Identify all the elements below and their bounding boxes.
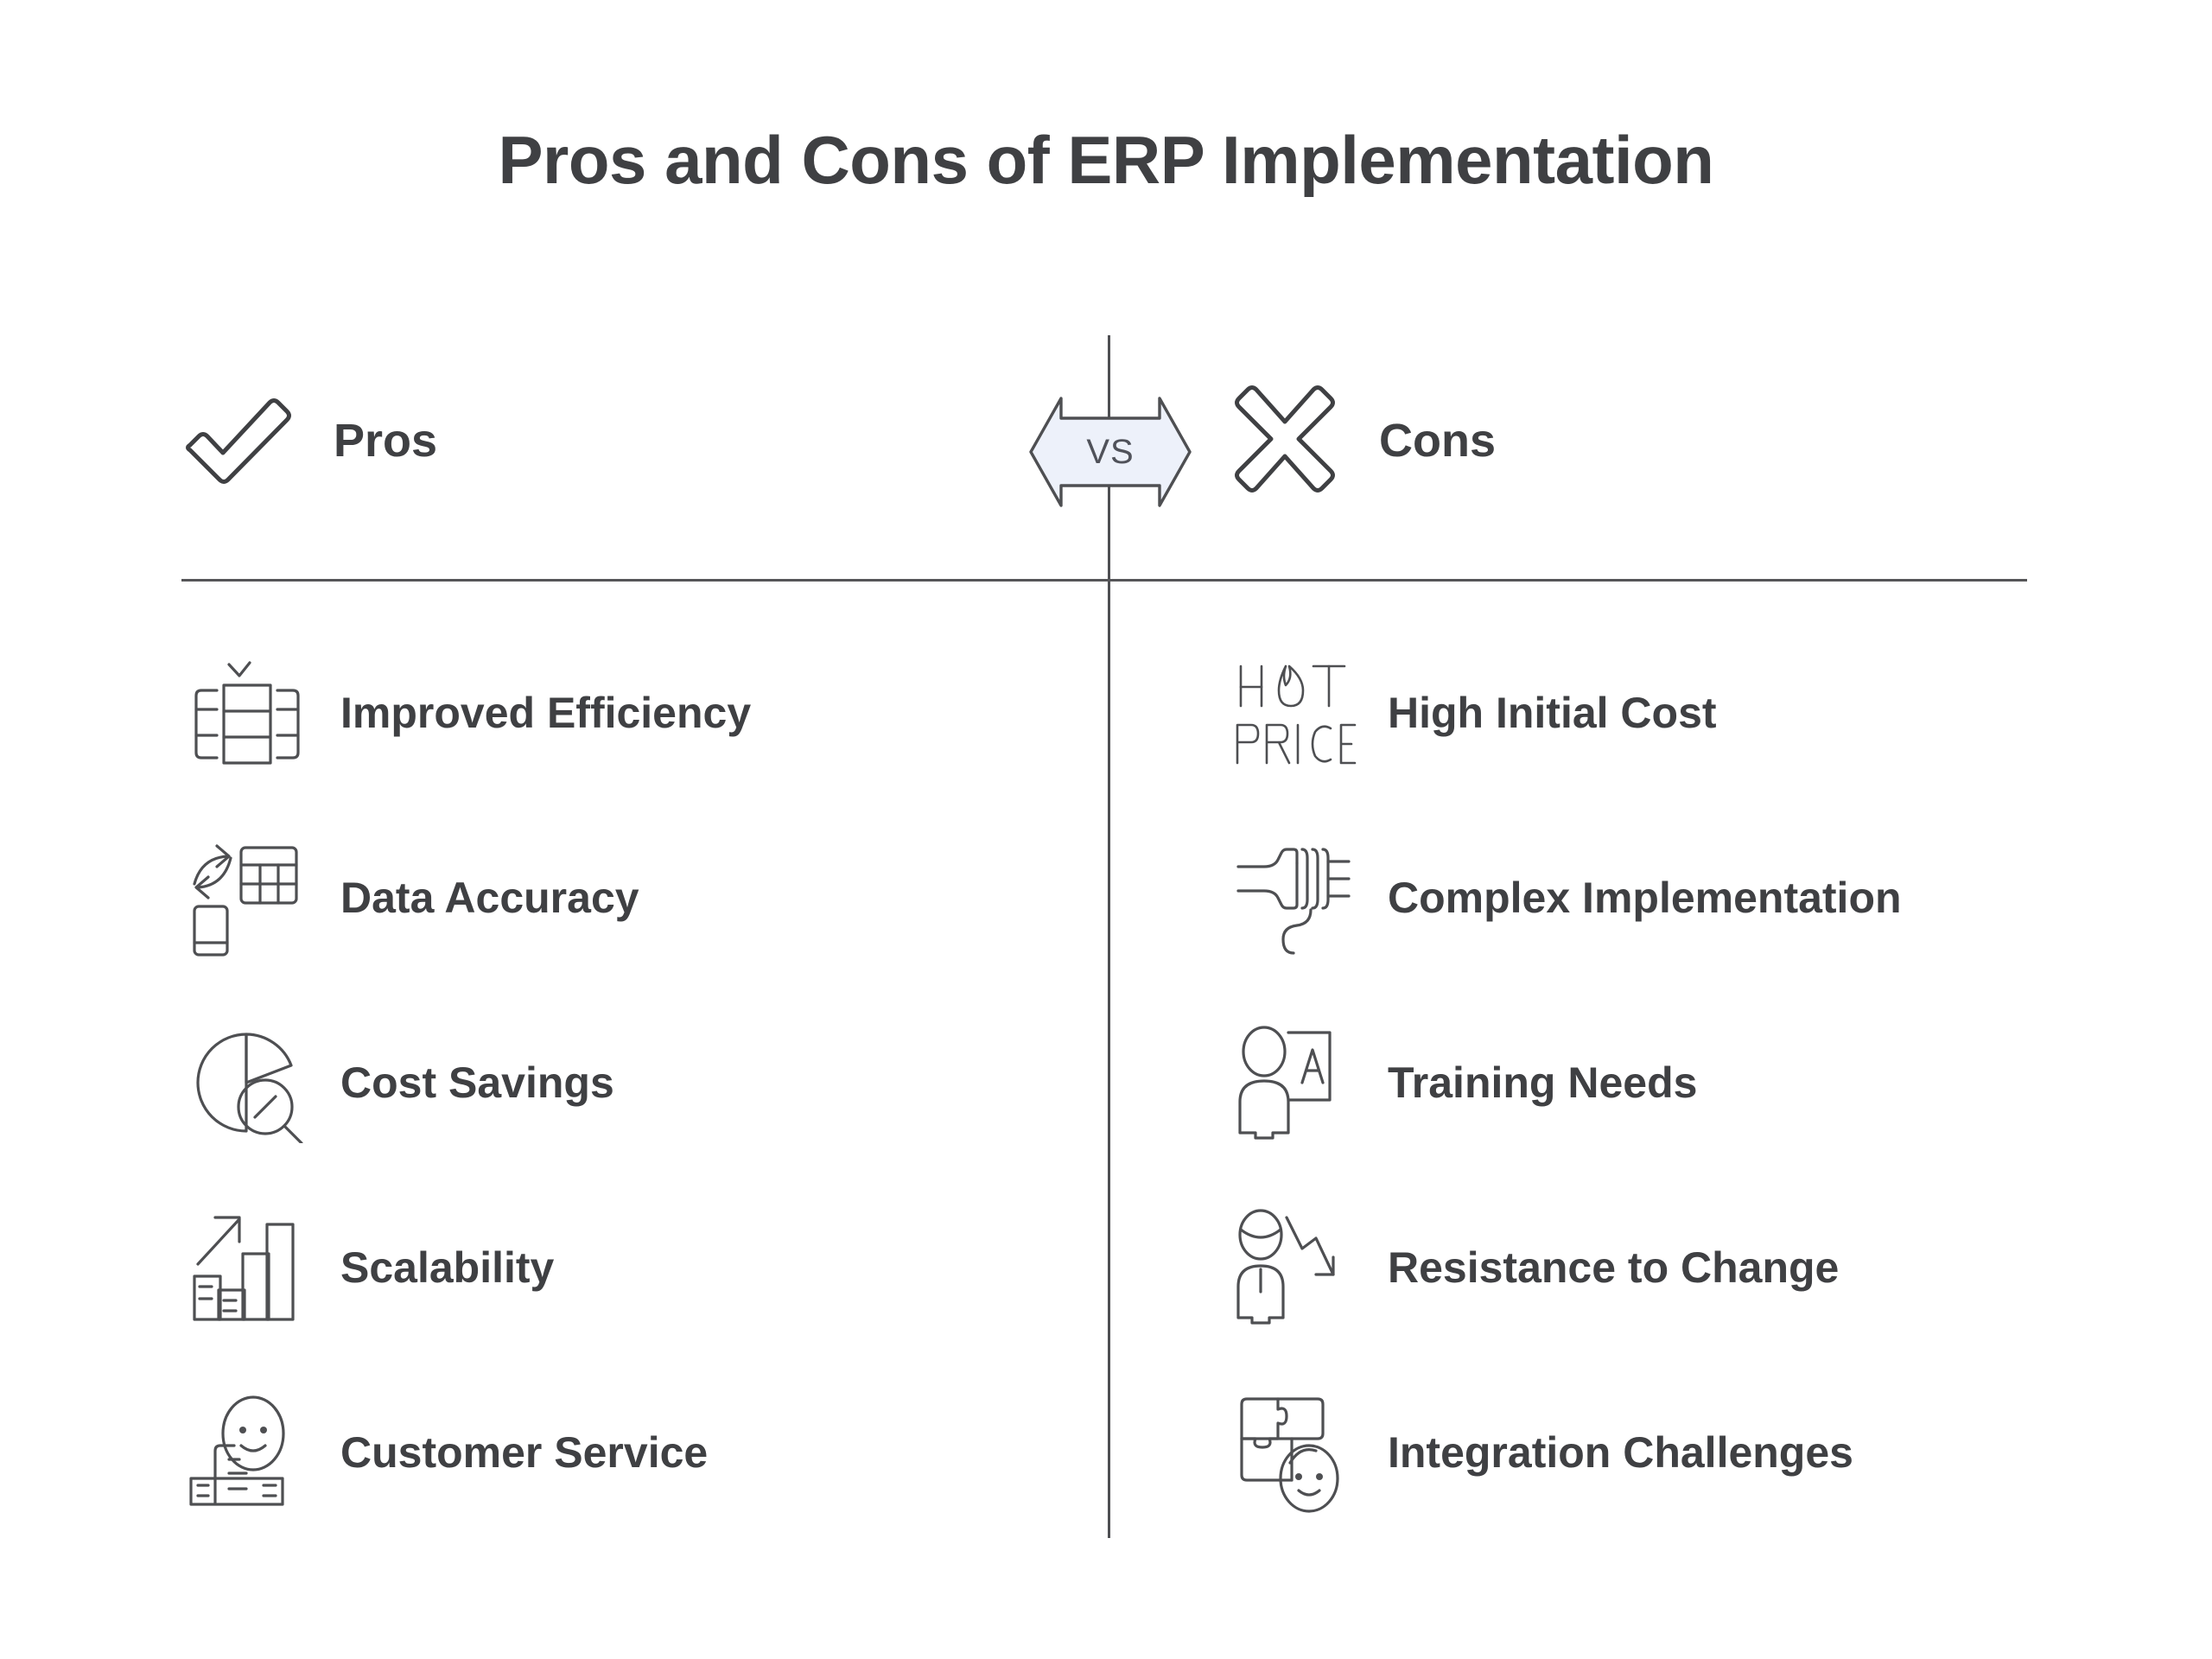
slide-root: Pros and Cons of ERP Implementation Pros… (0, 0, 2212, 1659)
list-item[interactable]: Integration Challenges (1229, 1360, 2145, 1545)
list-item-label: Scalability (340, 1244, 554, 1292)
puzzle-face-icon (1229, 1388, 1358, 1517)
list-item-label: Improved Efficiency (340, 690, 751, 737)
list-item-label: Integration Challenges (1388, 1429, 1853, 1477)
list-item[interactable]: Customer Service (181, 1360, 1097, 1545)
versus-label: VS (1028, 396, 1192, 508)
list-item[interactable]: Data Accuracy (181, 805, 1097, 990)
list-item-label: Customer Service (340, 1429, 708, 1477)
data-transfer-table-icon (181, 833, 311, 963)
cons-column: High Initial Cost Complex Implementation (1229, 620, 2145, 1545)
list-item[interactable]: Scalability (181, 1175, 1097, 1360)
hot-price-icon (1229, 648, 1358, 778)
person-down-arrow-icon (1229, 1203, 1358, 1332)
tangled-plug-cable-icon (1229, 833, 1358, 963)
horizontal-divider (181, 579, 2027, 582)
list-item[interactable]: Complex Implementation (1229, 805, 2145, 990)
list-item[interactable]: Training Needs (1229, 990, 2145, 1175)
checklist-table-icon (181, 648, 311, 778)
cons-heading: Cons (1379, 417, 1496, 464)
list-item-label: Data Accuracy (340, 874, 639, 922)
pros-column: Improved Efficiency Data Accur (181, 620, 1097, 1545)
list-item[interactable]: Cost Savings (181, 990, 1097, 1175)
list-item-label: Training Needs (1388, 1059, 1697, 1107)
list-item[interactable]: Improved Efficiency (181, 620, 1097, 805)
versus-badge: VS (1028, 396, 1192, 508)
pros-heading: Pros (334, 417, 437, 464)
page-title: Pros and Cons of ERP Implementation (0, 121, 2212, 200)
vertical-divider (1108, 335, 1110, 1538)
list-item[interactable]: Resistance to Change (1229, 1175, 2145, 1360)
list-item-label: Complex Implementation (1388, 874, 1902, 922)
pie-chart-magnifier-icon (181, 1018, 311, 1147)
cons-header: Cons (1229, 380, 1496, 501)
checkmark-icon (183, 391, 296, 491)
growth-bar-chart-icon (181, 1203, 311, 1332)
smiley-person-list-icon (181, 1388, 311, 1517)
list-item[interactable]: High Initial Cost (1229, 620, 2145, 805)
list-item-label: Cost Savings (340, 1059, 614, 1107)
pros-header: Pros (183, 380, 437, 501)
list-item-label: Resistance to Change (1388, 1244, 1839, 1292)
cross-icon (1229, 383, 1341, 499)
person-alphabet-board-icon (1229, 1018, 1358, 1147)
list-item-label: High Initial Cost (1388, 690, 1717, 737)
